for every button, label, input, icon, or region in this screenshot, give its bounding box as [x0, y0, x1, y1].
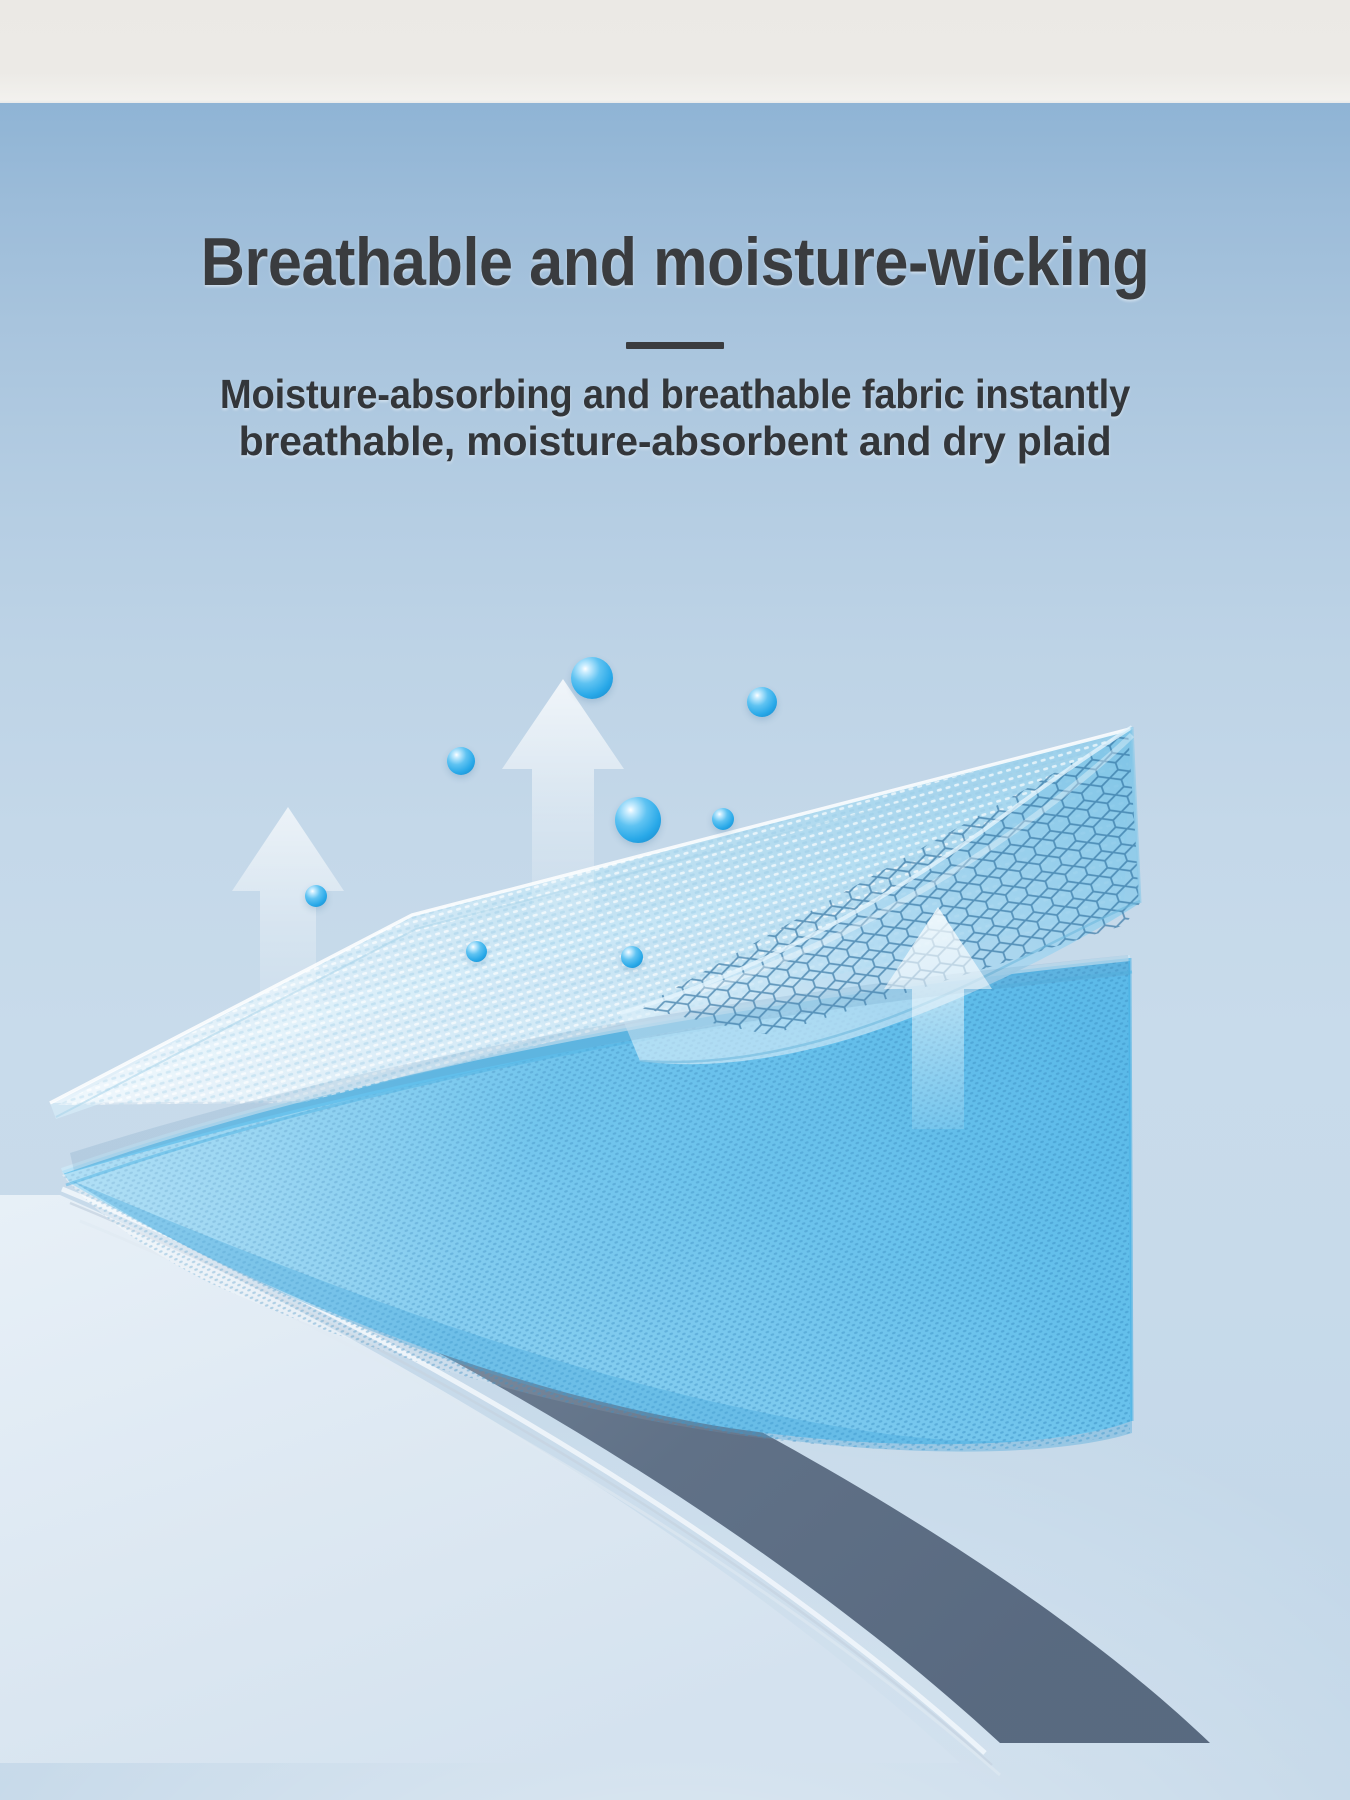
page-title: Breathable and moisture-wicking — [68, 228, 1283, 296]
subtitle-line-2: breathable, moisture-absorbent and dry p… — [75, 418, 1275, 465]
droplet-2 — [747, 687, 777, 717]
droplet-7 — [466, 941, 487, 962]
droplet-1 — [571, 657, 613, 699]
droplet-6 — [305, 885, 327, 907]
promo-stage: Breathable and moisture-wicking Moisture… — [0, 103, 1350, 1800]
droplet-5 — [712, 808, 734, 830]
page-subtitle: Moisture-absorbing and breathable fabric… — [75, 371, 1275, 465]
arrow-right-icon — [878, 903, 998, 1133]
droplet-4 — [615, 797, 661, 843]
title-divider — [626, 342, 724, 349]
top-bar — [0, 0, 1350, 103]
droplet-8 — [621, 946, 643, 968]
arrow-left-icon — [228, 803, 348, 1043]
subtitle-line-1: Moisture-absorbing and breathable fabric… — [117, 371, 1233, 418]
fabric-illustration — [0, 103, 1350, 1800]
arrow-center-icon — [498, 675, 628, 925]
droplet-3 — [447, 747, 475, 775]
